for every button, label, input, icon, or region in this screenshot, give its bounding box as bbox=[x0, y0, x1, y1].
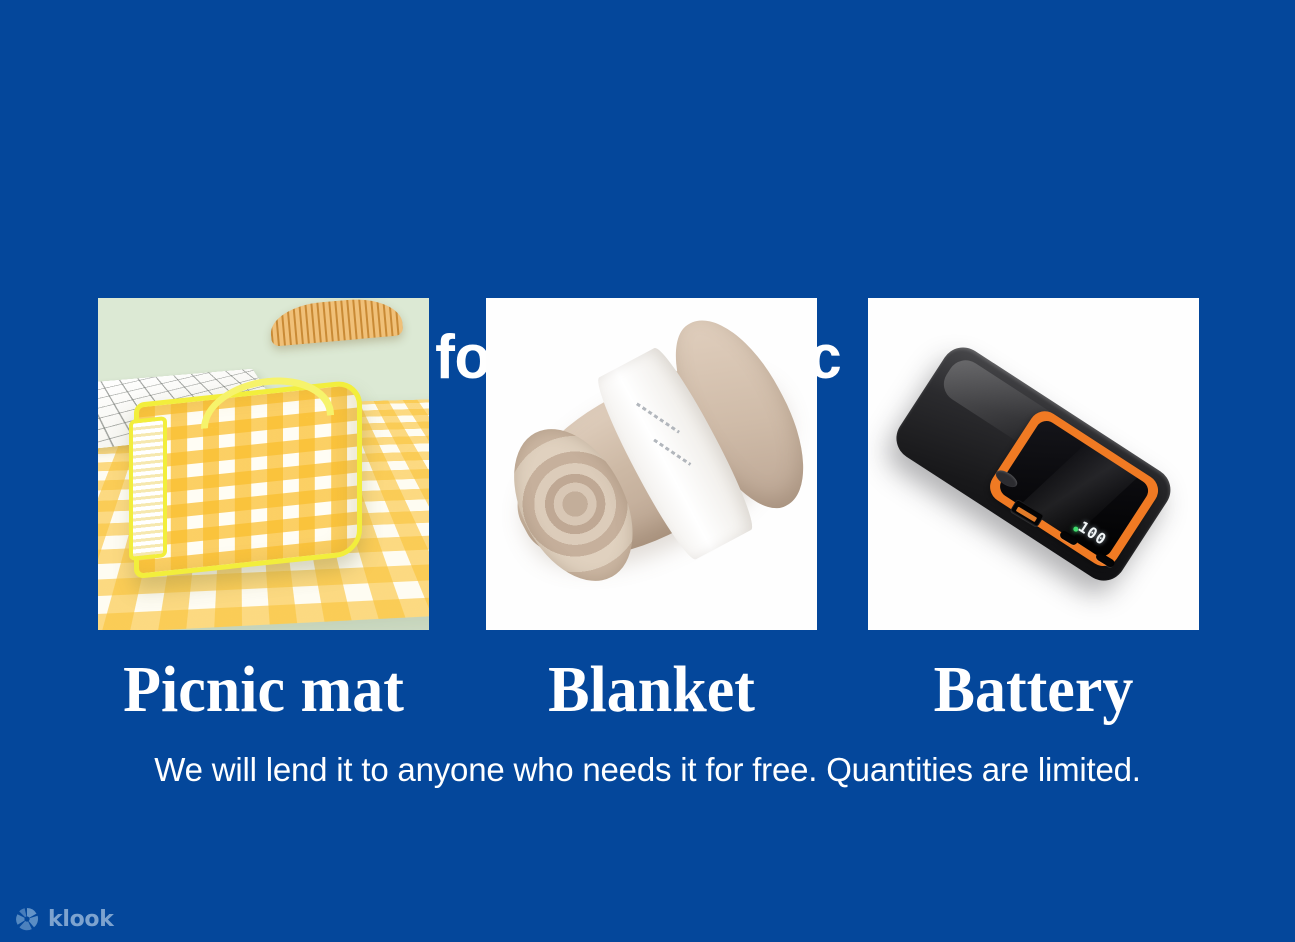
klook-watermark: klook bbox=[14, 906, 114, 932]
mat-wooden-item bbox=[269, 298, 404, 347]
mat-folded-edge bbox=[129, 416, 167, 561]
band-print-line bbox=[636, 403, 680, 434]
klook-pinwheel-icon bbox=[14, 906, 40, 932]
blanket-roll bbox=[486, 298, 817, 630]
klook-wordmark: klook bbox=[48, 907, 114, 932]
header-row: Free rental for your picnic Enk Enk Enk bbox=[0, 150, 1295, 270]
product-image-battery: 100 bbox=[868, 298, 1199, 630]
power-bank: 100 bbox=[868, 298, 1199, 630]
product-image-blanket bbox=[486, 298, 817, 630]
promo-poster: Free rental for your picnic Enk Enk Enk bbox=[0, 0, 1295, 942]
power-bank-shell: 100 bbox=[888, 339, 1179, 589]
caption-text: We will lend it to anyone who needs it f… bbox=[0, 748, 1295, 792]
product-label-blanket: Blanket bbox=[496, 650, 807, 730]
product-label-battery: Battery bbox=[878, 650, 1189, 730]
product-image-picnic-mat bbox=[98, 298, 429, 630]
band-print-line bbox=[653, 439, 691, 466]
usb-c-port bbox=[1058, 529, 1079, 546]
product-label-picnic-mat: Picnic mat bbox=[108, 650, 419, 730]
usb-c-port bbox=[1094, 551, 1115, 568]
